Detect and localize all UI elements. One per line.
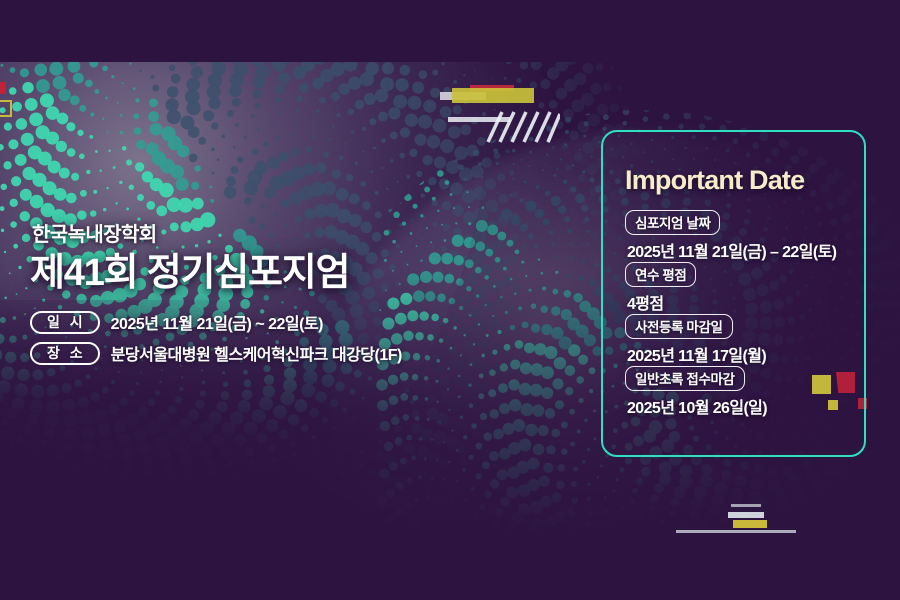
important-date-entry-abstract: 일반초록 접수마감 2025년 10월 26일(일) — [625, 366, 850, 418]
date-value: 2025년 11월 21일(금) ~ 22일(토) — [111, 310, 323, 334]
important-date-entry-preregistration: 사전등록 마감일 2025년 11월 17일(월) — [625, 314, 850, 366]
venue-label-pill: 장 소 — [30, 342, 100, 365]
info-row-date: 일 시 2025년 11월 21일(금) ~ 22일(토) — [30, 310, 470, 334]
info-row-venue: 장 소 분당서울대병원 헬스케어혁신파크 대강당(1F) — [30, 341, 470, 365]
abstract-deadline-value: 2025년 10월 26일(일) — [627, 394, 850, 418]
venue-value: 분당서울대병원 헬스케어혁신파크 대강당(1F) — [111, 341, 402, 365]
abstract-deadline-tag: 일반초록 접수마감 — [625, 366, 745, 391]
symposium-date-tag: 심포지엄 날짜 — [625, 210, 720, 235]
important-date-entry-symposium: 심포지엄 날짜 2025년 11월 21일(금) – 22일(토) — [625, 210, 850, 262]
hero-text-block: 한국녹내장학회 제41회 정기심포지엄 일 시 2025년 11월 21일(금)… — [30, 218, 470, 372]
symposium-banner: 한국녹내장학회 제41회 정기심포지엄 일 시 2025년 11월 21일(금)… — [0, 0, 900, 600]
symposium-date-value: 2025년 11월 21일(금) – 22일(토) — [627, 238, 850, 262]
important-date-panel: Important Date 심포지엄 날짜 2025년 11월 21일(금) … — [601, 130, 866, 457]
preregistration-deadline-tag: 사전등록 마감일 — [625, 314, 733, 339]
important-date-entry-credits: 연수 평점 4평점 — [625, 262, 850, 314]
date-label-pill: 일 시 — [30, 311, 100, 334]
credits-value: 4평점 — [627, 290, 850, 314]
organization-name: 한국녹내장학회 — [32, 218, 470, 247]
important-date-title: Important Date — [625, 165, 850, 196]
preregistration-deadline-value: 2025년 11월 17일(월) — [627, 342, 850, 366]
page-title: 제41회 정기심포지엄 — [30, 253, 470, 294]
credits-tag: 연수 평점 — [625, 262, 696, 287]
important-date-panel-content: Important Date 심포지엄 날짜 2025년 11월 21일(금) … — [625, 165, 850, 418]
